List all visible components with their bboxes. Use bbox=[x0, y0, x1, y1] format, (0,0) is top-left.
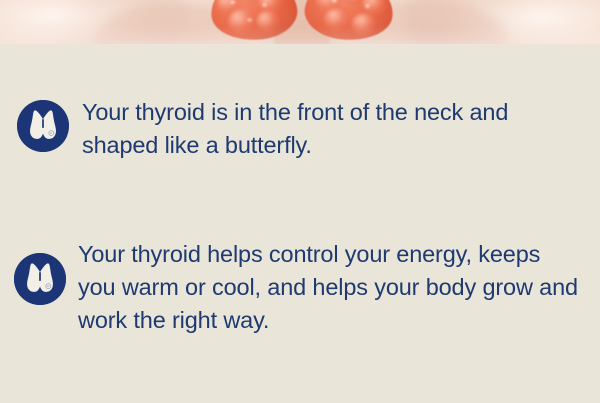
photo-blur-overlay bbox=[0, 0, 600, 44]
thyroid-info-card: R Your thyroid is in the front of the ne… bbox=[0, 0, 600, 403]
content-panel: R Your thyroid is in the front of the ne… bbox=[0, 46, 600, 403]
list-item: R Your thyroid helps control your energy… bbox=[14, 253, 584, 337]
list-item: R Your thyroid is in the front of the ne… bbox=[17, 100, 583, 162]
list-item-text: Your thyroid helps control your energy, … bbox=[78, 238, 584, 337]
thyroid-butterfly-icon: R bbox=[14, 253, 66, 305]
thyroid-butterfly-icon: R bbox=[17, 100, 69, 152]
hero-thyroid-photo bbox=[0, 0, 600, 44]
list-item-text: Your thyroid is in the front of the neck… bbox=[82, 96, 580, 162]
